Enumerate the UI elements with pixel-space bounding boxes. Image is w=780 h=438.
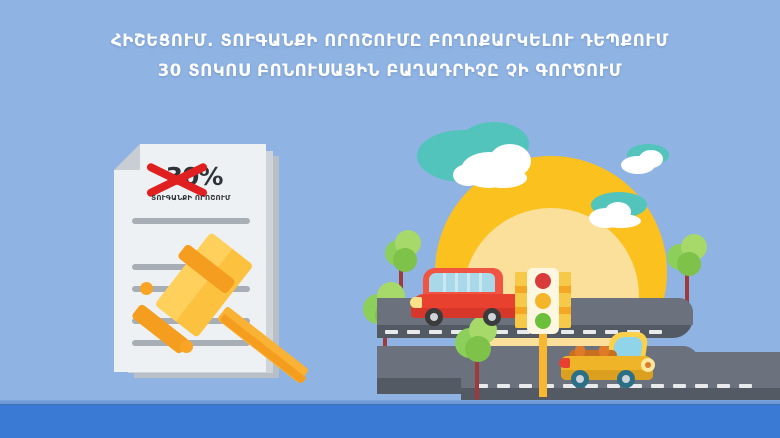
gavel-handle-shade bbox=[220, 314, 307, 384]
paper-corner-fold-icon bbox=[114, 144, 140, 170]
street-traffic-scene bbox=[355, 120, 780, 410]
fine-decision-document: 30% ՏՈՒԳԱՆՔԻ ՈՐՈՇՈՒՄ bbox=[96, 140, 311, 400]
page-title: ՀԻՇԵՑՈՒՄ. ՏՈՒԳԱՆՔԻ ՈՐՈՇՈՒՄԸ ԲՈՂՈՔԱՐԿԵԼՈՒ… bbox=[0, 26, 780, 86]
cloud-icon bbox=[601, 214, 641, 228]
document-body-line bbox=[132, 218, 250, 224]
cloud-icon bbox=[479, 168, 527, 188]
strikethrough-cross-icon bbox=[148, 162, 206, 196]
headlight bbox=[410, 297, 422, 308]
traffic-light-pole bbox=[539, 325, 547, 397]
headlight-core bbox=[645, 362, 651, 368]
cloud-icon bbox=[639, 150, 663, 168]
gavel-knob bbox=[180, 340, 193, 353]
traffic-light-housing bbox=[527, 268, 559, 334]
wheel-hub bbox=[488, 313, 496, 321]
traffic-light-side-panel bbox=[558, 272, 571, 328]
headline-line-2: 30 ՏՈԿՈՍ ԲՈՆՈՒՍԱՅԻՆ ԲԱՂԱԴՐԻՉԸ ՉԻ ԳՈՐԾՈՒՄ bbox=[0, 56, 780, 86]
wheel-hub bbox=[622, 375, 630, 383]
traffic-light-yellow-lamp bbox=[535, 293, 551, 309]
traffic-light-green-lamp bbox=[535, 313, 551, 329]
headline-line-1: ՀԻՇԵՑՈՒՄ. ՏՈՒԳԱՆՔԻ ՈՐՈՇՈՒՄԸ ԲՈՂՈՔԱՐԿԵԼՈՒ… bbox=[111, 31, 669, 50]
traffic-light-red-lamp bbox=[535, 273, 551, 289]
yellow-convertible-icon bbox=[555, 332, 665, 388]
gavel-knob bbox=[140, 282, 153, 295]
judge-gavel-icon bbox=[136, 232, 306, 392]
bottom-bar bbox=[0, 405, 780, 438]
wheel-hub bbox=[576, 375, 584, 383]
wheel-hub bbox=[430, 313, 438, 321]
taillight bbox=[559, 358, 570, 368]
document-caption: ՏՈՒԳԱՆՔԻ ՈՐՈՇՈՒՄ bbox=[126, 194, 256, 202]
poster-canvas: ՀԻՇԵՑՈՒՄ. ՏՈՒԳԱՆՔԻ ՈՐՈՇՈՒՄԸ ԲՈՂՈՔԱՐԿԵԼՈՒ… bbox=[0, 0, 780, 438]
